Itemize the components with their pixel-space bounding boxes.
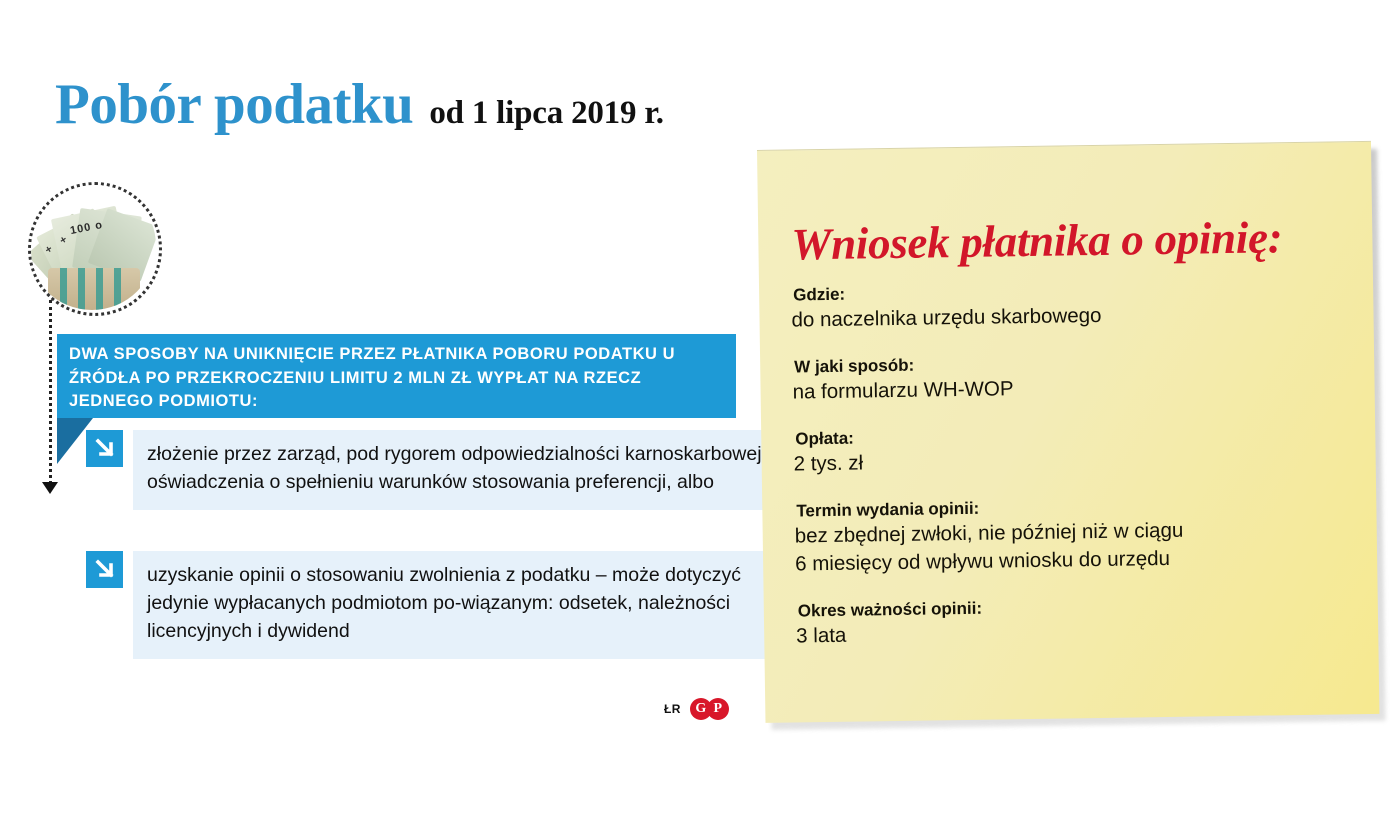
list-item-box: uzyskanie opinii o stosowaniu zwolnienia… [133, 551, 821, 659]
infographic-canvas: Pobór podatkuod 1 lipca 2019 r. + + 100 … [0, 0, 1400, 827]
list-item-label: złożenie przez zarząd, pod rygorem odpow… [147, 440, 807, 496]
section-header-text: Dwa sposoby na uniknięcie przez płatnika… [69, 343, 709, 414]
author-initials: ŁR [664, 702, 681, 716]
basket-icon [48, 268, 140, 310]
arrow-down-right-icon [86, 551, 123, 588]
banknotes-photo-circle: + + 100 o [28, 182, 162, 316]
connector-arrowhead-icon [42, 482, 58, 494]
title-main: Pobór podatku [55, 73, 413, 136]
banknotes-illustration: + + 100 o [28, 182, 156, 310]
panel-surface: Wniosek płatnika o opinię: Gdzie:do nacz… [757, 141, 1379, 723]
arrow-down-right-icon [86, 430, 123, 467]
dotted-connector-line [49, 300, 52, 490]
panel-detail-item: W jaki sposób:na formularzu WH-WOP [782, 347, 1363, 407]
panel-detail-item: Okres ważności opinii:3 lata [786, 591, 1367, 651]
panel-detail-item: Gdzie:do naczelnika urzędu skarbowego [781, 275, 1362, 335]
request-panel: Wniosek płatnika o opinię: Gdzie:do nacz… [757, 141, 1380, 730]
panel-heading: Wniosek płatnika o opinię: [791, 211, 1283, 270]
panel-detail-item: Opłata:2 tys. zł [783, 419, 1364, 479]
title-subtitle: od 1 lipca 2019 r. [429, 95, 663, 131]
page-title: Pobór podatkuod 1 lipca 2019 r. [55, 72, 664, 137]
gazeta-prawna-logo: G P [690, 698, 734, 720]
panel-detail-item: Termin wydania opinii:bez zbędnej zwłoki… [784, 491, 1365, 579]
credit-block: ŁR G P [664, 698, 734, 720]
logo-letter-p: P [707, 698, 729, 720]
panel-detail-value: bez zbędnej zwłoki, nie później niż w ci… [795, 514, 1366, 578]
list-item-label: uzyskanie opinii o stosowaniu zwolnienia… [147, 561, 807, 645]
list-item-box: złożenie przez zarząd, pod rygorem odpow… [133, 430, 821, 510]
panel-detail-list: Gdzie:do naczelnika urzędu skarbowegoW j… [781, 275, 1367, 672]
